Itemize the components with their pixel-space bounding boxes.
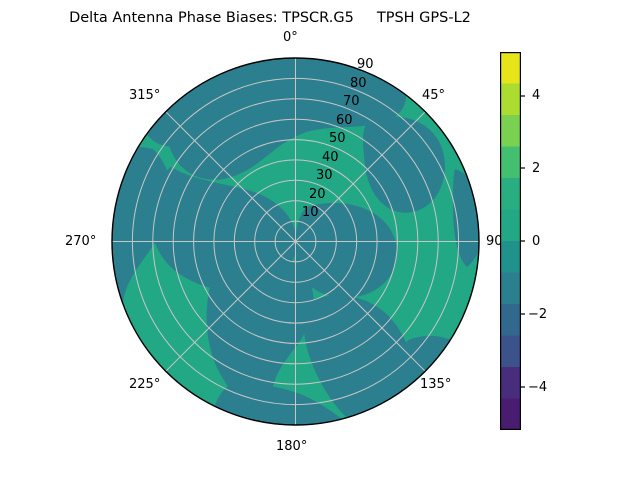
cbar-band-11 <box>500 52 521 84</box>
r-tick-40: 40 <box>322 150 339 165</box>
cbar-tick-label-4: 4 <box>532 88 540 103</box>
r-tick-20: 20 <box>309 187 326 202</box>
r-tick-90: 90 <box>357 57 374 72</box>
cbar-band-1 <box>500 367 521 399</box>
cbar-tick-label-m2: −2 <box>528 307 547 322</box>
r-tick-30: 30 <box>316 168 333 183</box>
r-tick-50: 50 <box>329 131 346 146</box>
cbar-band-6 <box>500 210 521 242</box>
cbar-band-10 <box>500 84 521 116</box>
cbar-tick-label-m4: −4 <box>528 380 547 395</box>
colorbar-axis-label: Bias (mm) <box>548 0 569 73</box>
r-tick-70: 70 <box>343 94 360 109</box>
theta-tick-0: 0° <box>283 30 298 45</box>
theta-tick-315: 315° <box>129 88 160 103</box>
cbar-tick-label-2: 2 <box>532 161 540 176</box>
cbar-band-8 <box>500 147 521 179</box>
cbar-band-2 <box>500 336 521 368</box>
theta-tick-225: 225° <box>129 377 160 392</box>
polar-grid-spokes <box>112 58 479 425</box>
r-tick-60: 60 <box>336 113 353 128</box>
colorbar-tick-marks <box>521 52 530 430</box>
theta-tick-45: 45° <box>422 88 445 103</box>
cbar-band-7 <box>500 178 521 210</box>
page-title: Delta Antenna Phase Biases: TPSCR.G5 TPS… <box>0 10 540 26</box>
theta-tick-270: 270° <box>65 234 96 249</box>
cbar-band-9 <box>500 115 521 147</box>
polar-contour-svg <box>111 57 480 426</box>
r-tick-10: 10 <box>302 205 319 220</box>
colorbar[interactable] <box>500 52 521 430</box>
theta-tick-180: 180° <box>276 439 307 454</box>
figure-canvas: Delta Antenna Phase Biases: TPSCR.G5 TPS… <box>0 0 640 480</box>
cbar-tick-label-0: 0 <box>532 234 540 249</box>
cbar-band-0 <box>500 399 521 431</box>
r-tick-80: 80 <box>350 76 367 91</box>
theta-tick-135: 135° <box>420 377 451 392</box>
cbar-band-5 <box>500 241 521 273</box>
polar-plot[interactable] <box>111 57 480 426</box>
colorbar-svg <box>500 52 521 430</box>
cbar-band-3 <box>500 304 521 336</box>
cbar-band-4 <box>500 273 521 305</box>
